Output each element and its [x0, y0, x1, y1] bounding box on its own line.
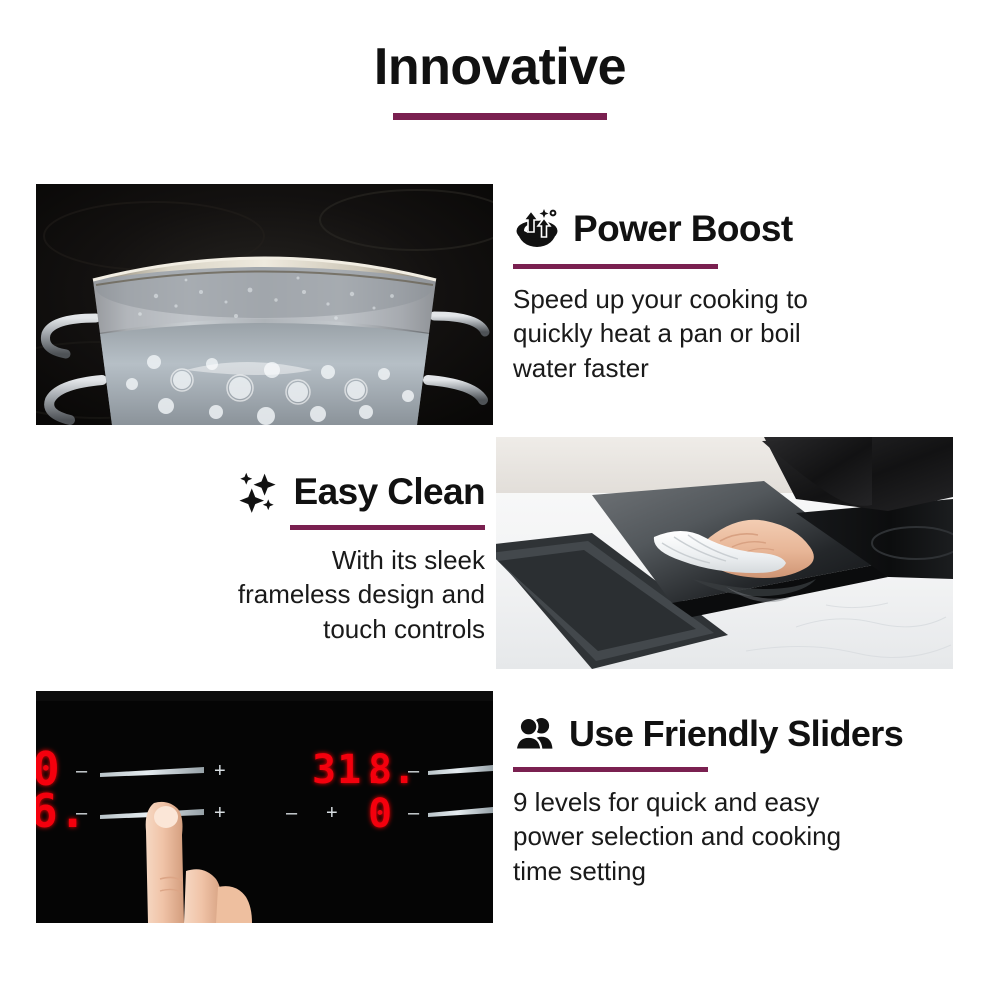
page-header: Innovative [0, 40, 1000, 120]
wiping-cooktop-photo [496, 437, 953, 669]
feature-power-boost-underline [513, 264, 718, 269]
feature-easy-clean: Easy Clean With its sleek frameless desi… [130, 470, 485, 646]
slider-controls-photo: 0 6. – + – + 31. 8. 0 – + – – [36, 691, 493, 923]
users-icon [513, 712, 557, 756]
feature-power-boost-body: Speed up your cooking to quickly heat a … [513, 282, 943, 385]
svg-text:–: – [76, 760, 88, 782]
feature-easy-clean-body: With its sleek frameless design and touc… [130, 543, 485, 646]
feature-power-boost-header: Power Boost [513, 205, 943, 253]
boost-pot-icon [513, 205, 561, 253]
feature-sliders-title: Use Friendly Sliders [569, 714, 903, 754]
svg-text:+: + [214, 760, 226, 782]
boiling-pot-photo [36, 184, 493, 425]
svg-text:+: + [326, 802, 338, 824]
feature-use-friendly-sliders: Use Friendly Sliders 9 levels for quick … [513, 712, 983, 888]
sparkles-icon [238, 470, 282, 514]
feature-power-boost-title: Power Boost [573, 209, 793, 250]
feature-easy-clean-title: Easy Clean [294, 472, 485, 513]
svg-text:–: – [408, 760, 420, 782]
feature-easy-clean-underline [290, 525, 485, 530]
svg-text:+: + [214, 802, 226, 824]
page-title: Innovative [0, 40, 1000, 95]
svg-text:0: 0 [368, 791, 392, 837]
feature-easy-clean-header: Easy Clean [130, 470, 485, 514]
svg-text:–: – [76, 802, 88, 824]
feature-sliders-body: 9 levels for quick and easy power select… [513, 785, 983, 888]
infographic-page: Innovative [0, 0, 1000, 1000]
feature-power-boost: Power Boost Speed up your cooking to qui… [513, 205, 943, 385]
title-underline [393, 113, 607, 120]
feature-sliders-underline [513, 767, 708, 772]
svg-text:–: – [286, 802, 298, 824]
feature-sliders-header: Use Friendly Sliders [513, 712, 983, 756]
svg-text:–: – [408, 802, 420, 824]
